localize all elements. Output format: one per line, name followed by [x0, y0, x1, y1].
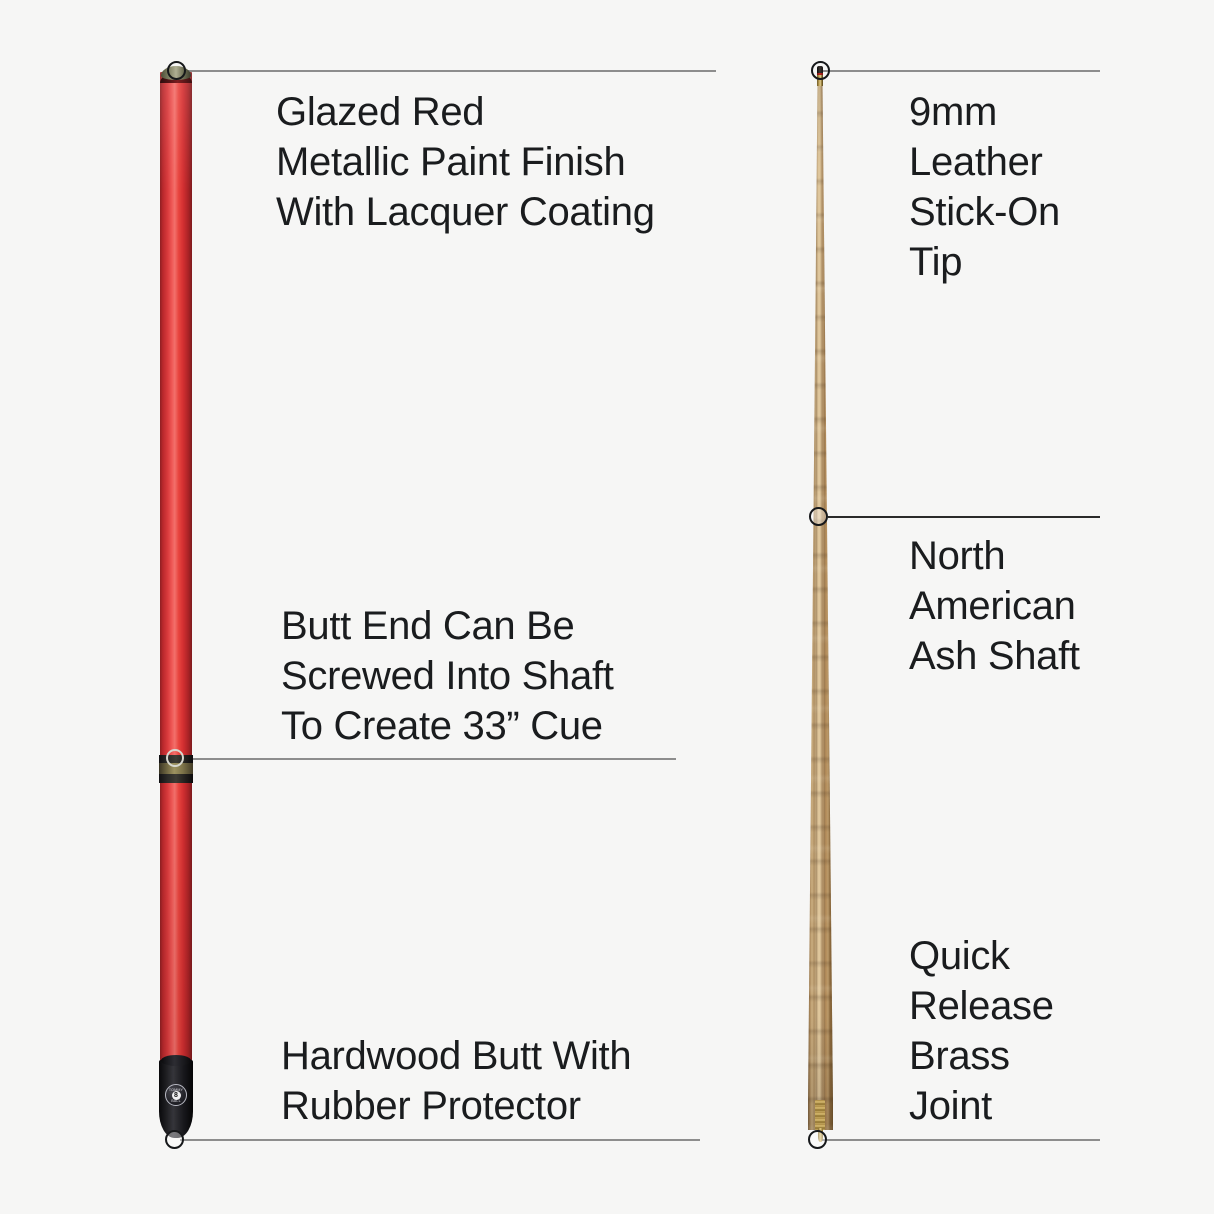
callout-line-brass-joint [822, 1139, 1100, 1141]
callout-text-bumper: Hardwood Butt With Rubber Protector [281, 1031, 731, 1131]
callout-marker-joint [166, 749, 184, 767]
callout-line-bumper [180, 1139, 700, 1141]
rubber-bumper: TOMMY 8 BALL [159, 1060, 193, 1138]
shaft-section-illustration [800, 66, 840, 1142]
callout-line-joint [180, 758, 676, 760]
callout-marker-bumper [165, 1130, 184, 1149]
infographic-canvas: TOMMY 8 BALL Glazed Red Metallic Paint F… [0, 0, 1214, 1214]
brand-badge-icon: TOMMY 8 BALL [165, 1084, 187, 1106]
butt-red-body [160, 72, 192, 1066]
callout-marker-shaft [809, 507, 828, 526]
callout-text-shaft: North American Ash Shaft [909, 531, 1139, 681]
badge-bottom-text: BALL [166, 1099, 186, 1103]
callout-marker-finish [167, 61, 186, 80]
callout-marker-brass-joint [808, 1130, 827, 1149]
callout-line-shaft [828, 516, 1100, 518]
callout-text-finish: Glazed Red Metallic Paint Finish With La… [276, 87, 746, 237]
callout-marker-tip [811, 61, 830, 80]
joint-threads [815, 1100, 825, 1130]
callout-text-brass-joint: Quick Release Brass Joint [909, 931, 1139, 1131]
badge-top-text: TOMMY [166, 1088, 186, 1092]
shaft-shading [800, 84, 840, 1142]
butt-section-illustration: TOMMY 8 BALL [160, 66, 192, 1138]
callout-text-joint: Butt End Can Be Screwed Into Shaft To Cr… [281, 601, 711, 751]
callout-line-finish [176, 70, 716, 72]
callout-line-tip [820, 70, 1100, 72]
callout-text-tip: 9mm Leather Stick-On Tip [909, 87, 1139, 287]
